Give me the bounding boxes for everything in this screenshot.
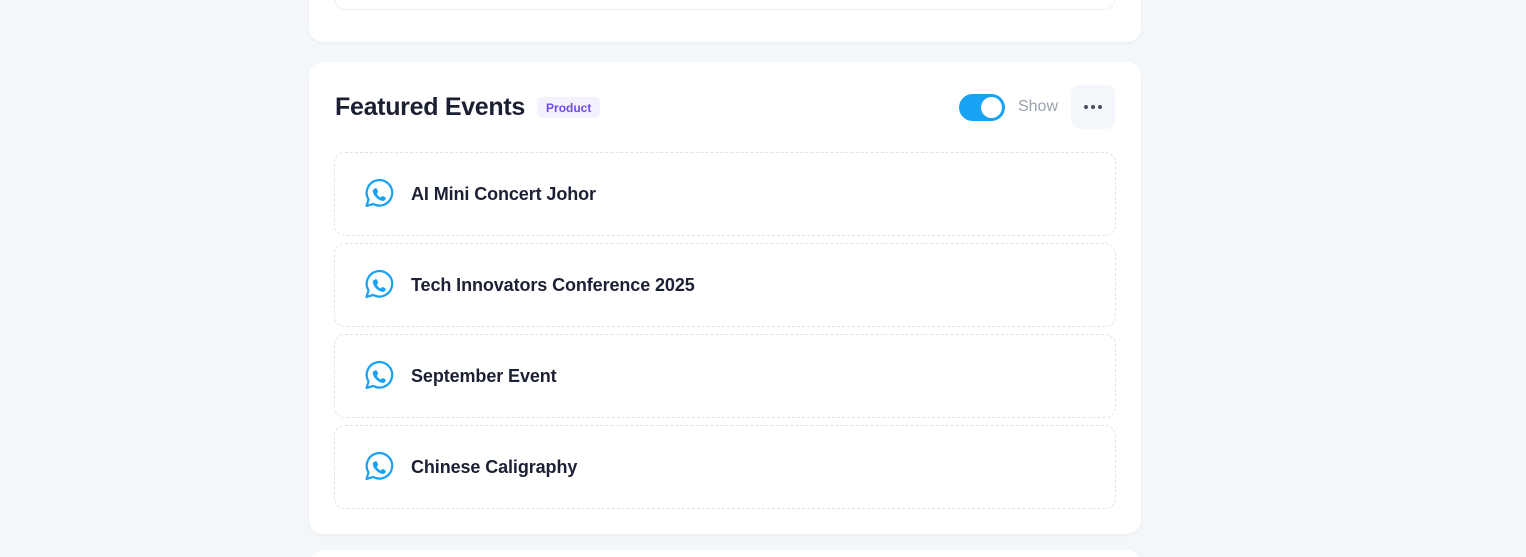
featured-events-panel: Featured Events Product Show <box>309 62 1141 534</box>
list-item[interactable]: Chinese Caligraphy <box>334 425 1116 509</box>
ellipsis-icon <box>1084 105 1088 109</box>
whatsapp-icon <box>361 268 395 302</box>
page-root: Featured Events Product Show <box>0 0 1526 557</box>
show-toggle-label: Show <box>1018 98 1058 116</box>
list-item[interactable]: AI Mini Concert Johor <box>334 152 1116 236</box>
title-group: Featured Events Product <box>335 95 600 120</box>
whatsapp-icon <box>361 359 395 393</box>
event-title: September Event <box>411 366 557 387</box>
header-actions: Show <box>959 85 1115 129</box>
whatsapp-icon <box>361 177 395 211</box>
previous-section-card <box>309 0 1141 42</box>
event-title: Tech Innovators Conference 2025 <box>411 275 695 296</box>
ellipsis-icon <box>1098 105 1102 109</box>
event-title: Chinese Caligraphy <box>411 457 577 478</box>
status-badge: Product <box>537 97 600 118</box>
next-section-card <box>309 550 1141 557</box>
list-item[interactable]: Tech Innovators Conference 2025 <box>334 243 1116 327</box>
toggle-knob-icon <box>981 97 1002 118</box>
show-toggle[interactable] <box>959 94 1005 121</box>
featured-events-list: AI Mini Concert Johor Tech Innovators Co… <box>334 152 1116 516</box>
ellipsis-icon <box>1091 105 1095 109</box>
whatsapp-icon <box>361 450 395 484</box>
previous-section-card-inner <box>335 0 1115 10</box>
page-title: Featured Events <box>335 95 525 120</box>
list-item[interactable]: September Event <box>334 334 1116 418</box>
event-title: AI Mini Concert Johor <box>411 184 596 205</box>
more-options-button[interactable] <box>1071 85 1115 129</box>
featured-events-header: Featured Events Product Show <box>309 62 1141 152</box>
